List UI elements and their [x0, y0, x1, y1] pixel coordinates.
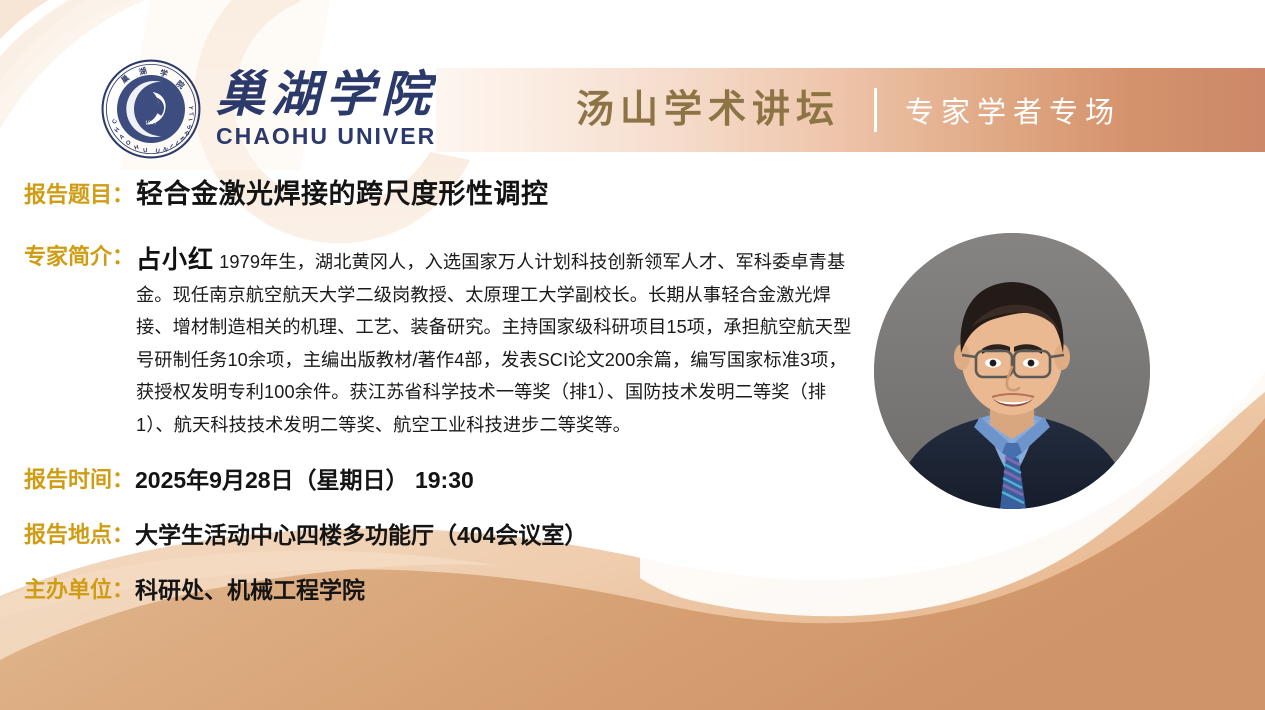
time-value: 2025年9月28日（星期日） 19:30: [135, 463, 474, 498]
bio-label: 专家简介：: [24, 240, 134, 273]
place-row: 报告地点： 大学生活动中心四楼多功能厅（404会议室）: [24, 518, 587, 553]
speaker-name: 占小红: [136, 246, 214, 274]
poster-root: 1977 巢 湖 学 院 C H A O H U U N: [0, 0, 1265, 710]
bio-body: 占小红 1979年生，湖北黄冈人，入选国家万人计划科技创新领军人才、军科委卓青基…: [136, 240, 854, 441]
time-row: 报告时间： 2025年9月28日（星期日） 19:30: [24, 463, 474, 498]
bio-row: 专家简介： 占小红 1979年生，湖北黄冈人，入选国家万人计划科技创新领军人才、…: [24, 240, 884, 441]
host-value: 科研处、机械工程学院: [135, 573, 365, 608]
poster-content: 报告题目： 轻合金激光焊接的跨尺度形性调控 专家简介： 占小红 1979年生，湖…: [0, 0, 1265, 710]
host-row: 主办单位： 科研处、机械工程学院: [24, 573, 365, 608]
topic-row: 报告题目： 轻合金激光焊接的跨尺度形性调控: [24, 178, 549, 211]
place-value: 大学生活动中心四楼多功能厅（404会议室）: [135, 518, 587, 553]
host-label: 主办单位：: [24, 573, 134, 606]
topic-label: 报告题目：: [24, 178, 134, 211]
topic-value: 轻合金激光焊接的跨尺度形性调控: [136, 178, 549, 211]
bio-text: 1979年生，湖北黄冈人，入选国家万人计划科技创新领军人才、军科委卓青基金。现任…: [136, 252, 851, 435]
place-label: 报告地点：: [24, 518, 134, 551]
time-label: 报告时间：: [24, 463, 134, 496]
